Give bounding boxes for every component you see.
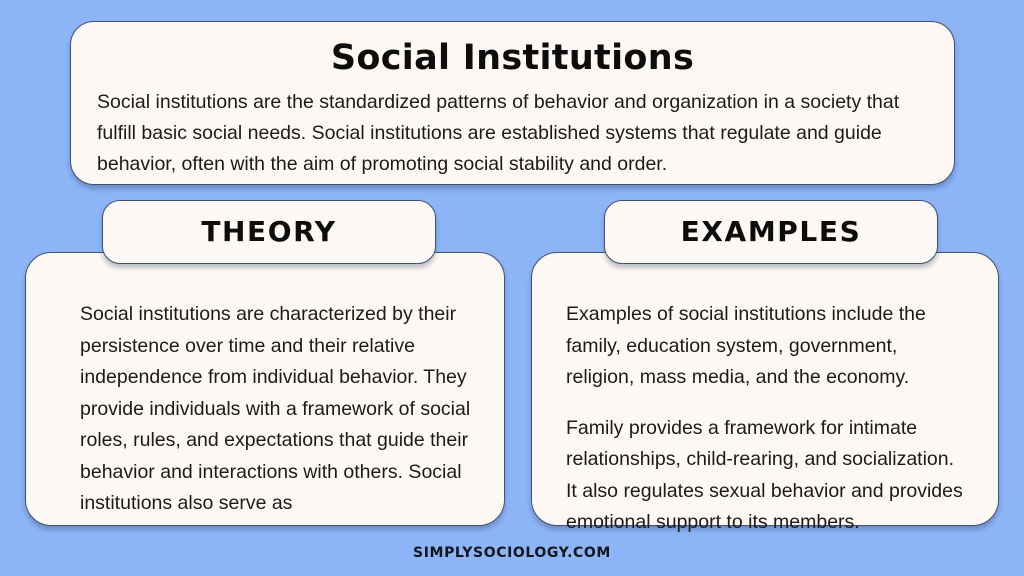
examples-header-card: EXAMPLES — [604, 200, 938, 264]
page-title: Social Institutions — [97, 34, 928, 82]
theory-body-card: Social institutions are characterized by… — [25, 252, 505, 526]
intro-paragraph: Social institutions are the standardized… — [97, 87, 928, 180]
theory-header-card: THEORY — [102, 200, 436, 264]
examples-body-card: Examples of social institutions include … — [531, 252, 999, 526]
examples-paragraph-2: Family provides a framework for intimate… — [554, 413, 976, 539]
intro-card: Social Institutions Social institutions … — [70, 21, 955, 185]
examples-header-label: EXAMPLES — [681, 218, 862, 246]
source-watermark: SIMPLYSOCIOLOGY.COM — [0, 545, 1024, 561]
examples-paragraph-1: Examples of social institutions include … — [554, 299, 976, 394]
theory-paragraph-1: Social institutions are characterized by… — [48, 299, 482, 520]
theory-header-label: THEORY — [201, 218, 336, 246]
infographic-canvas: Social Institutions Social institutions … — [0, 0, 1024, 576]
